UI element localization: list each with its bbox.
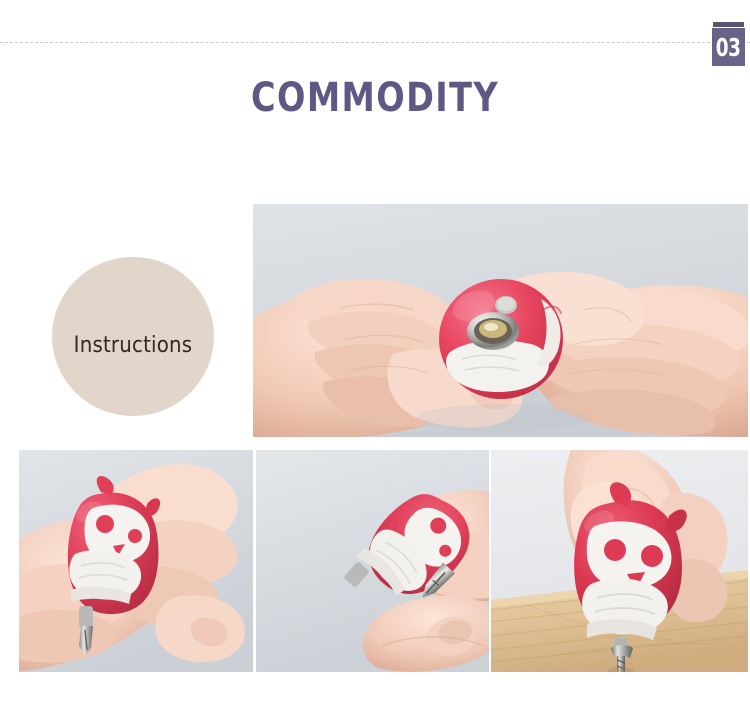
- photo-owl-front-with-bit-exposed: [19, 450, 253, 672]
- header-divider: [0, 42, 750, 43]
- photo-owl-tilted-bit-closeup: [256, 450, 489, 672]
- instructions-label: Instructions: [52, 333, 214, 359]
- photo-b2-artwork: [256, 450, 489, 672]
- section-number-badge: 03: [712, 28, 745, 66]
- photo-b1-artwork: [19, 450, 253, 672]
- section-number-label: 03: [716, 35, 741, 60]
- page-root: 03 COMMODITY Instructions: [0, 0, 750, 717]
- photo-hands-holding-owl-screwdriver-top: [253, 204, 748, 437]
- page-title: COMMODITY: [26, 76, 724, 120]
- badge-top-bar: [713, 22, 744, 27]
- photo-owl-driving-screw-into-wood: [491, 450, 748, 672]
- photo-b3-artwork: [491, 450, 748, 672]
- instructions-circle: Instructions: [52, 257, 214, 416]
- photo-main-artwork: [253, 204, 748, 437]
